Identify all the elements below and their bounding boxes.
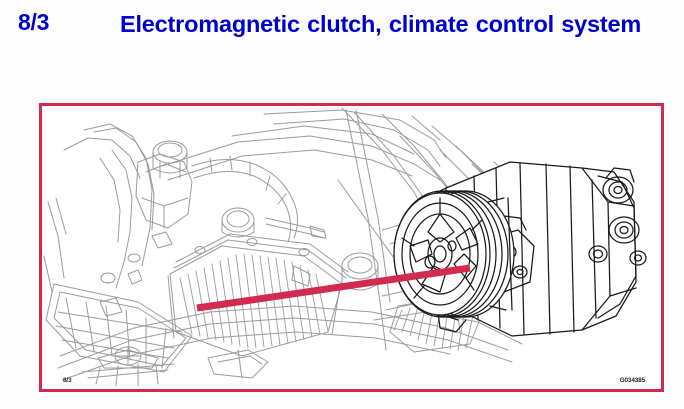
- figure-id-right: G034385: [620, 377, 645, 384]
- section-number: 8/3: [18, 11, 49, 34]
- illustration-frame: 8/3 G034385: [39, 103, 664, 392]
- figure-id-left: 8/3: [63, 377, 71, 384]
- page-title: Electromagnetic clutch, climate control …: [120, 9, 665, 40]
- technical-illustration: [42, 106, 661, 389]
- page-header: 8/3 Electromagnetic clutch, climate cont…: [0, 0, 684, 96]
